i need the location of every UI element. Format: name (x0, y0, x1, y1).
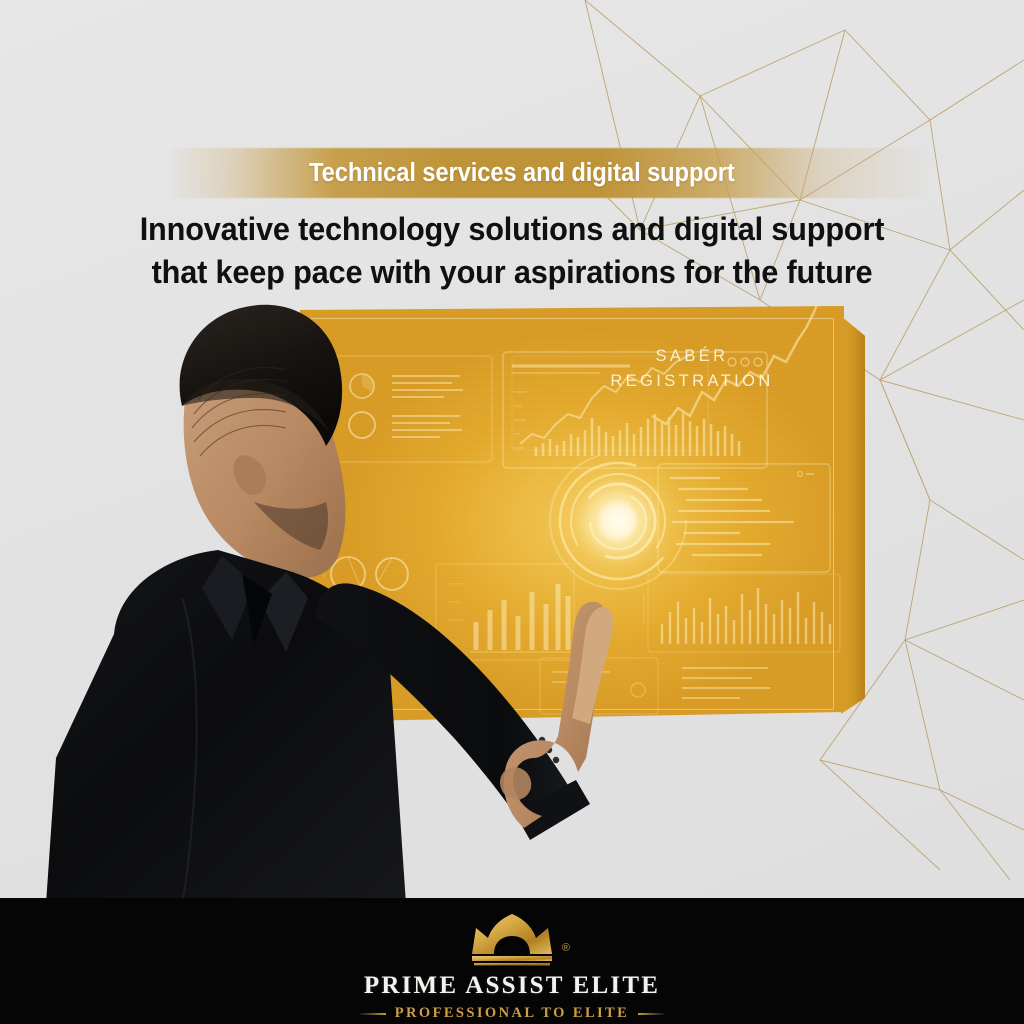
page-title: Innovative technology solutions and digi… (28, 208, 996, 294)
registered-trademark-icon: ® (562, 942, 570, 954)
brand-tagline-row: PROFESSIONAL TO ELITE (360, 1005, 664, 1022)
display-side-edge (841, 316, 865, 714)
brand-name: PRIME ASSIST ELITE (364, 972, 660, 1000)
tagline-rule-left (360, 1013, 386, 1015)
headline-line-1: Innovative technology solutions and digi… (140, 211, 885, 247)
person-illustration (0, 288, 626, 904)
crown-icon (464, 912, 560, 968)
banner-label: Technical services and digital support (309, 159, 735, 188)
tagline-rule-right (638, 1013, 664, 1015)
poster-canvas: Technical services and digital support I… (0, 0, 1024, 1024)
brand-tagline: PROFESSIONAL TO ELITE (395, 1005, 629, 1022)
brand-footer: ® PRIME ASSIST ELITE PROFESSIONAL TO ELI… (0, 898, 1024, 1024)
eyebrow-banner: Technical services and digital support (168, 148, 928, 198)
